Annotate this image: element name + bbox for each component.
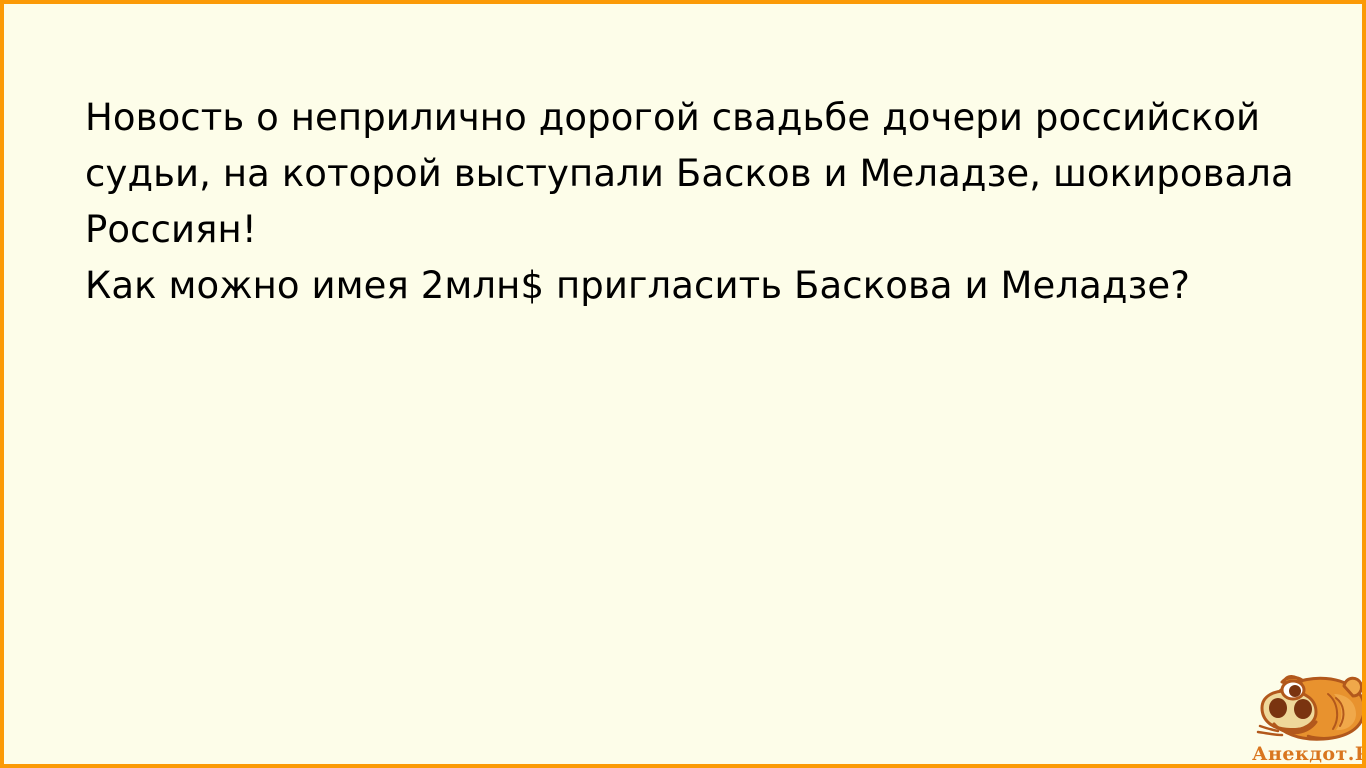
site-logo[interactable]: Анекдот.Ру [1248,672,1366,768]
logo-wordmark: Анекдот.Ру [1252,740,1366,768]
joke-page: Новость о неприлично дорогой свадьбе доч… [0,0,1366,768]
joke-text: Новость о неприлично дорогой свадьбе доч… [85,90,1315,314]
hippo-mascot-icon [1248,672,1366,744]
